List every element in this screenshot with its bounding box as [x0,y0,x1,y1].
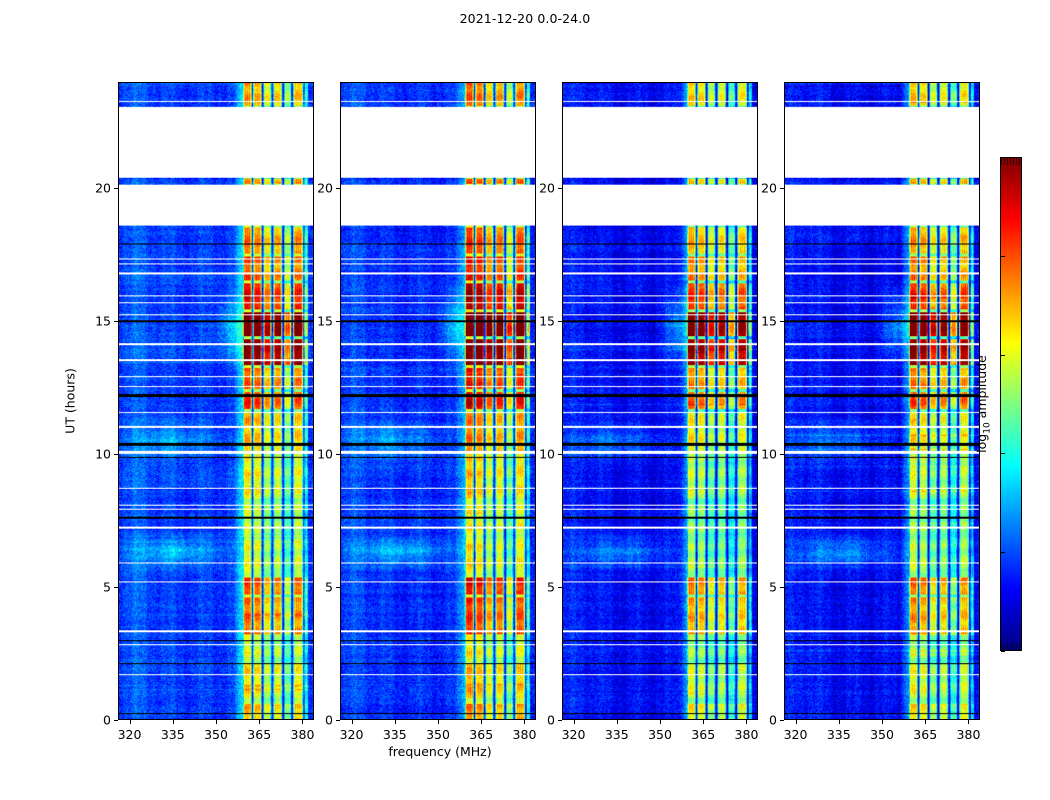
x-tick-label: 365 [469,727,493,742]
y-tick-mark [780,720,784,721]
y-tick-label: 5 [298,580,333,595]
y-tick-mark [558,188,562,189]
x-tick-mark [925,720,926,724]
y-tick-mark [558,321,562,322]
x-tick-mark [216,720,217,724]
x-tick-label: 380 [291,727,315,742]
x-tick-label: 320 [340,727,364,742]
x-tick-label: 335 [161,727,185,742]
y-tick-label: 10 [298,447,333,462]
spectrogram-xy [563,83,757,719]
y-tick-label: 20 [742,181,777,196]
colorbar-label: log10 amplitude [974,355,993,453]
figure-canvas: 2021-12-20 0.0-24.0 XX, V7*V15=EA24*EA26… [0,0,1050,800]
panel-yy[interactable]: YY, V7*V15=EA24*EA26 [340,82,536,720]
x-tick-mark [660,720,661,724]
y-tick-label: 20 [298,181,333,196]
x-tick-mark [481,720,482,724]
spectrogram-yx [785,83,979,719]
x-tick-label: 320 [562,727,586,742]
x-tick-label: 365 [913,727,937,742]
x-tick-label: 365 [247,727,271,742]
colorbar-tick-mark [1001,256,1005,257]
x-tick-label: 380 [735,727,759,742]
colorbar-label-tail: amplitude [974,355,989,422]
x-tick-label: 335 [383,727,407,742]
y-tick-mark [114,587,118,588]
y-tick-label: 5 [76,580,111,595]
x-tick-mark [395,720,396,724]
x-tick-mark [703,720,704,724]
x-tick-mark [796,720,797,724]
x-tick-label: 365 [691,727,715,742]
y-tick-label: 5 [520,580,555,595]
x-tick-label: 320 [118,727,142,742]
colorbar-tick-mark [1001,453,1005,454]
panel-xy[interactable]: XY, V7*V15=EA24*EA26 [562,82,758,720]
x-tick-label: 380 [957,727,981,742]
panel-yx[interactable]: YX, V7*V15=EA24*EA26 [784,82,980,720]
x-tick-label: 320 [784,727,808,742]
y-tick-label: 10 [76,447,111,462]
x-tick-mark [130,720,131,724]
y-tick-label: 20 [520,181,555,196]
x-tick-mark [259,720,260,724]
y-tick-mark [336,720,340,721]
y-tick-label: 10 [520,447,555,462]
y-tick-mark [336,188,340,189]
y-tick-mark [558,454,562,455]
panel-xx[interactable]: XX, V7*V15=EA24*EA26 [118,82,314,720]
colorbar-tick-mark [1001,355,1005,356]
figure-suptitle: 2021-12-20 0.0-24.0 [0,11,1050,26]
colorbar-label-base: log [974,434,989,453]
y-tick-label: 15 [742,314,777,329]
y-tick-mark [780,587,784,588]
x-tick-label: 350 [204,727,228,742]
colorbar[interactable] [1000,157,1022,651]
y-tick-mark [114,454,118,455]
y-tick-mark [558,587,562,588]
x-tick-mark [617,720,618,724]
y-tick-mark [558,720,562,721]
y-tick-mark [114,188,118,189]
colorbar-tick-mark [1001,651,1005,652]
y-tick-label: 15 [520,314,555,329]
x-tick-mark [839,720,840,724]
x-tick-mark [352,720,353,724]
x-tick-mark [882,720,883,724]
x-tick-label: 380 [513,727,537,742]
y-tick-mark [780,454,784,455]
x-tick-mark [968,720,969,724]
x-tick-label: 335 [827,727,851,742]
colorbar-gradient [1001,158,1021,650]
y-tick-mark [114,720,118,721]
x-tick-mark [173,720,174,724]
spectrogram-xx [119,83,313,719]
x-tick-label: 350 [426,727,450,742]
y-tick-label: 0 [298,713,333,728]
x-tick-mark [574,720,575,724]
x-tick-label: 350 [870,727,894,742]
colorbar-label-subscript: 10 [982,422,992,433]
colorbar-tick-mark [1001,157,1005,158]
y-tick-mark [114,321,118,322]
x-axis-label: frequency (MHz) [0,744,880,759]
y-tick-label: 5 [742,580,777,595]
x-tick-mark [438,720,439,724]
y-tick-mark [336,321,340,322]
y-tick-mark [780,321,784,322]
y-tick-label: 15 [298,314,333,329]
y-tick-mark [780,188,784,189]
colorbar-tick-mark [1001,552,1005,553]
y-tick-mark [336,587,340,588]
x-tick-label: 350 [648,727,672,742]
y-tick-label: 0 [742,713,777,728]
y-tick-mark [336,454,340,455]
y-tick-label: 15 [76,314,111,329]
y-axis-label: UT (hours) [63,368,78,434]
y-tick-label: 10 [742,447,777,462]
y-tick-label: 20 [76,181,111,196]
x-tick-label: 335 [605,727,629,742]
spectrogram-yy [341,83,535,719]
y-tick-label: 0 [520,713,555,728]
y-tick-label: 0 [76,713,111,728]
